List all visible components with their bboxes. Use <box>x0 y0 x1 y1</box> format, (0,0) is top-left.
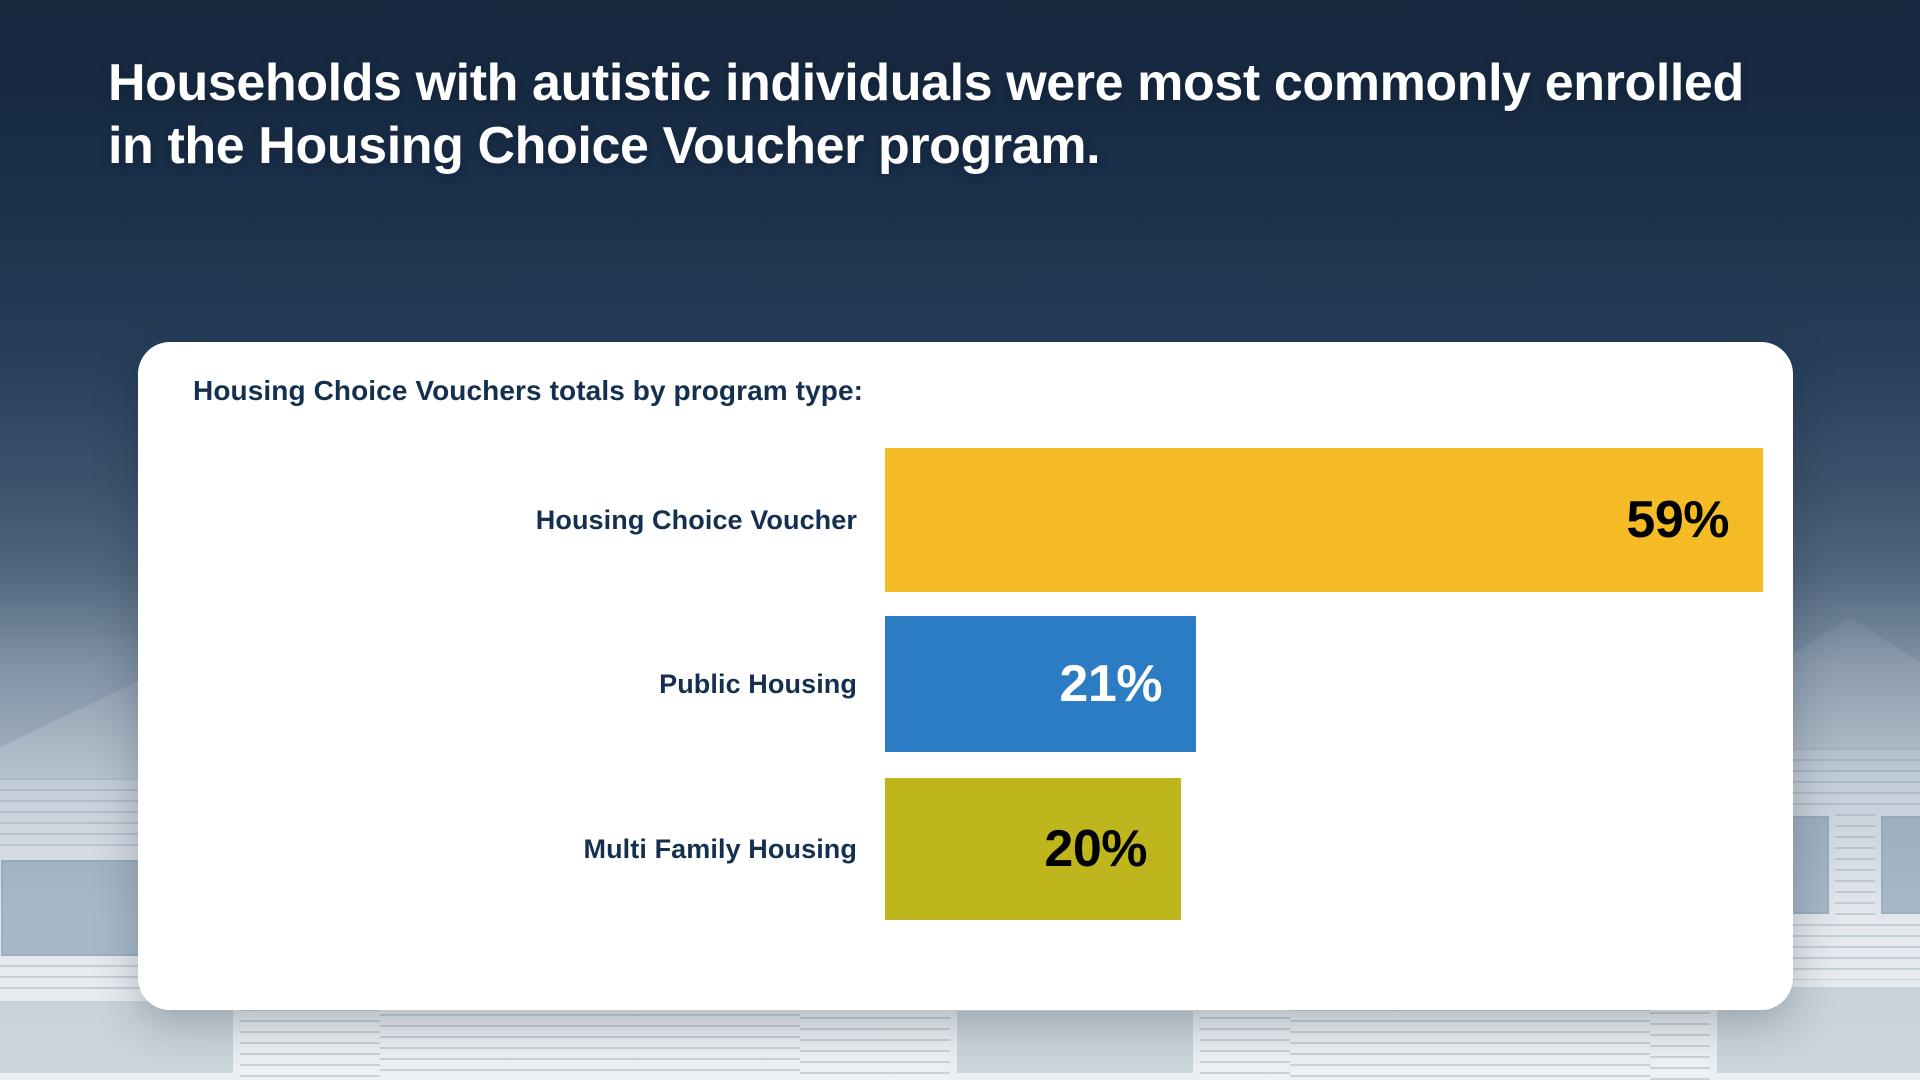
bar-label-housing-choice-voucher: Housing Choice Voucher <box>138 505 885 536</box>
bar-value-public-housing: 21% <box>1059 658 1196 710</box>
bar-label-public-housing: Public Housing <box>138 669 885 700</box>
bar-value-multi-family-housing: 20% <box>1044 823 1181 875</box>
bar-row: Housing Choice Voucher 59% <box>138 448 1793 592</box>
chart-card: Housing Choice Vouchers totals by progra… <box>138 342 1793 1010</box>
bar-housing-choice-voucher[interactable]: 59% <box>885 448 1763 592</box>
bar-label-multi-family-housing: Multi Family Housing <box>138 834 885 865</box>
bar-chart: Housing Choice Voucher 59% Public Housin… <box>138 448 1793 993</box>
bar-value-housing-choice-voucher: 59% <box>1626 494 1763 546</box>
bar-public-housing[interactable]: 21% <box>885 616 1196 752</box>
bar-row: Public Housing 21% <box>138 616 1793 752</box>
infographic-slide: Households with autistic individuals wer… <box>0 0 1920 1080</box>
bar-multi-family-housing[interactable]: 20% <box>885 778 1181 920</box>
page-title: Households with autistic individuals wer… <box>108 52 1788 179</box>
bar-row: Multi Family Housing 20% <box>138 778 1793 920</box>
chart-title: Housing Choice Vouchers totals by progra… <box>193 375 863 407</box>
